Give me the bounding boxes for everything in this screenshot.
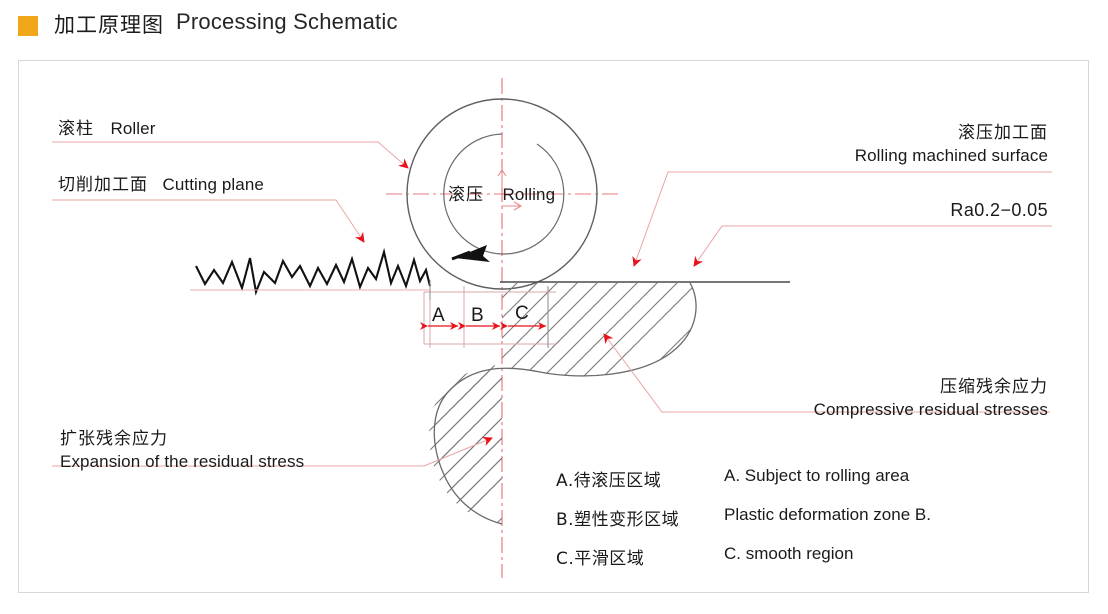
callout-compressive-stress-en: Compressive residual stresses [814,400,1048,420]
callout-rolling-machined-surface: 滚压加工面 Rolling machined surface [855,118,1048,166]
callout-expansion-stress-cn: 扩张残余应力 [60,424,304,449]
leader-roller [52,142,408,168]
zone-label-a: A [432,305,445,327]
callout-roller-cn: 滚柱 [58,119,94,139]
callout-expansion-stress: 扩张残余应力 Expansion of the residual stress [60,424,304,472]
zone-label-b: B [471,305,484,327]
callout-cutting-plane-en: Cutting plane [162,175,263,194]
leader-cutting-plane [52,200,364,242]
callout-rolling-center-en: Rolling [502,185,555,204]
callout-rolling-center-cn: 滚压 [448,185,484,205]
rotation-arrow-icon [455,245,490,262]
cut-surface-profile [196,252,430,292]
callout-cutting-plane: 切削加工面 Cutting plane [58,170,264,195]
callout-roughness-value: Ra0.2−0.05 [950,200,1048,220]
schematic-page: 加工原理图 Processing Schematic [0,0,1108,614]
callout-roller-en: Roller [110,119,155,138]
legend-en-a: A. Subject to rolling area [724,466,909,486]
zone-label-c: C [515,303,529,325]
legend-en-b: Plastic deformation zone B. [724,505,931,525]
expansion-hatch-region [380,220,760,600]
schematic-drawing [0,0,1108,614]
callout-rolling-machined-surface-en: Rolling machined surface [855,146,1048,166]
callout-rolling-machined-surface-cn: 滚压加工面 [855,118,1048,143]
callout-compressive-stress-cn: 压缩残余应力 [814,372,1048,397]
callout-expansion-stress-en: Expansion of the residual stress [60,452,304,472]
legend-cn-a: A.待滚压区域 [556,466,661,491]
legend-cn-c: C.平滑区域 [556,544,644,569]
legend-cn-b: B.塑性变形区域 [556,505,679,530]
legend-en-c: C. smooth region [724,544,853,564]
callout-rolling-center: 滚压 Rolling [448,180,555,205]
leader-roughness [694,226,1052,266]
callout-roughness: Ra0.2−0.05 [950,200,1048,221]
callout-roller: 滚柱 Roller [58,114,155,139]
callout-cutting-plane-cn: 切削加工面 [58,175,148,195]
callout-compressive-stress: 压缩残余应力 Compressive residual stresses [814,372,1048,420]
